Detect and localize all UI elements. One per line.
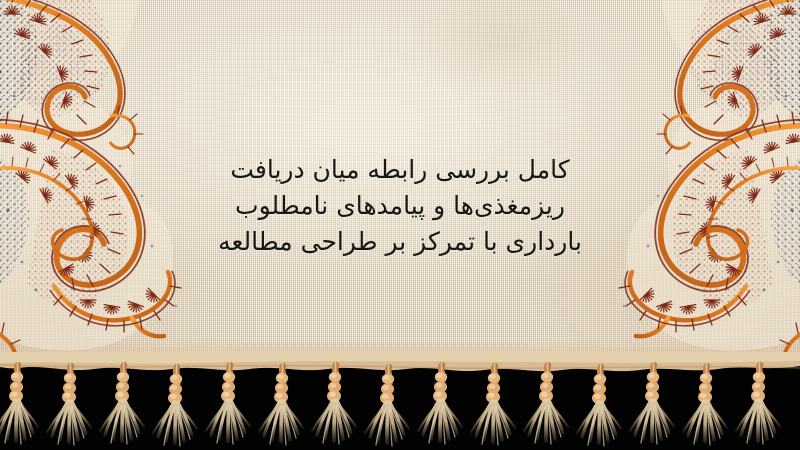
title-line-1: کامل بررسی رابطه میان دریافت: [200, 152, 600, 188]
cloth-bottom-hem: [0, 340, 800, 366]
title-line-2: ریزمغذی‌ها و پیامدهای نامطلوب: [200, 188, 600, 224]
slide-canvas: کامل بررسی رابطه میان دریافت ریزمغذی‌ها …: [0, 0, 800, 450]
slide-title: کامل بررسی رابطه میان دریافت ریزمغذی‌ها …: [200, 152, 600, 260]
title-line-3: بارداری با تمرکز بر طراحی مطالعه: [200, 224, 600, 260]
